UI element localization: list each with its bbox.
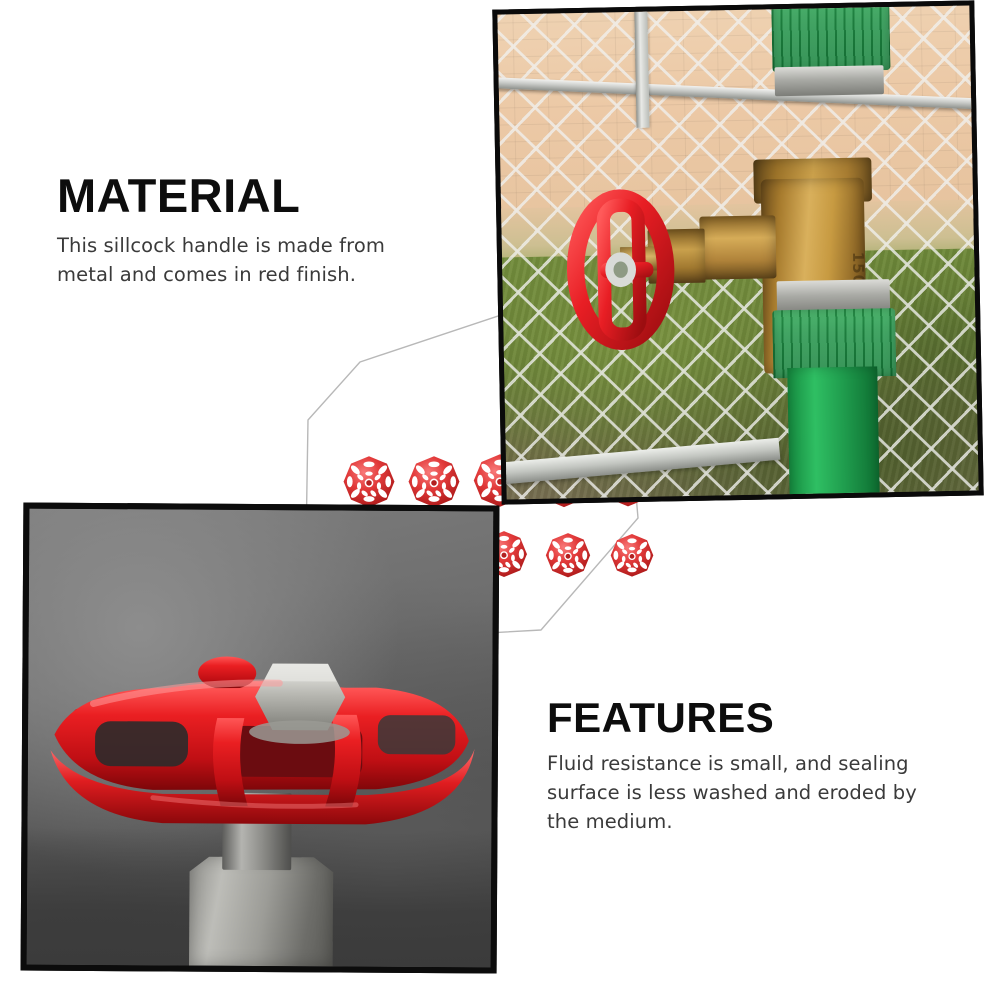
material-text-block: MATERIAL This sillcock handle is made fr…	[57, 172, 477, 289]
material-heading: MATERIAL	[57, 172, 477, 219]
valve-hex-body	[189, 856, 333, 966]
infographic-canvas: 150#	[0, 0, 1000, 1000]
features-body-line: Fluid resistance is small, and sealing	[547, 749, 967, 778]
brass-horizontal-neck	[700, 215, 777, 279]
red-handwheel-closeup	[37, 641, 484, 849]
steel-ferrule-top	[775, 65, 884, 96]
features-heading: FEATURES	[547, 697, 967, 739]
ppr-green-pipe	[787, 366, 880, 499]
material-body: This sillcock handle is made from metal …	[57, 231, 477, 289]
red-handwheel	[557, 186, 683, 353]
features-body-line: the medium.	[547, 807, 967, 836]
features-text-block: FEATURES Fluid resistance is small, and …	[547, 697, 967, 836]
fence-post	[634, 12, 649, 129]
photo-handwheel-closeup	[21, 503, 500, 974]
features-body: Fluid resistance is small, and sealing s…	[547, 749, 967, 836]
photo-valve-on-fence: 150#	[492, 0, 983, 504]
features-body-line: surface is less washed and eroded by	[547, 778, 967, 807]
material-body-line: metal and comes in red finish.	[57, 260, 477, 289]
material-body-line: This sillcock handle is made from	[57, 231, 477, 260]
ppr-green-collar-top	[771, 6, 890, 73]
